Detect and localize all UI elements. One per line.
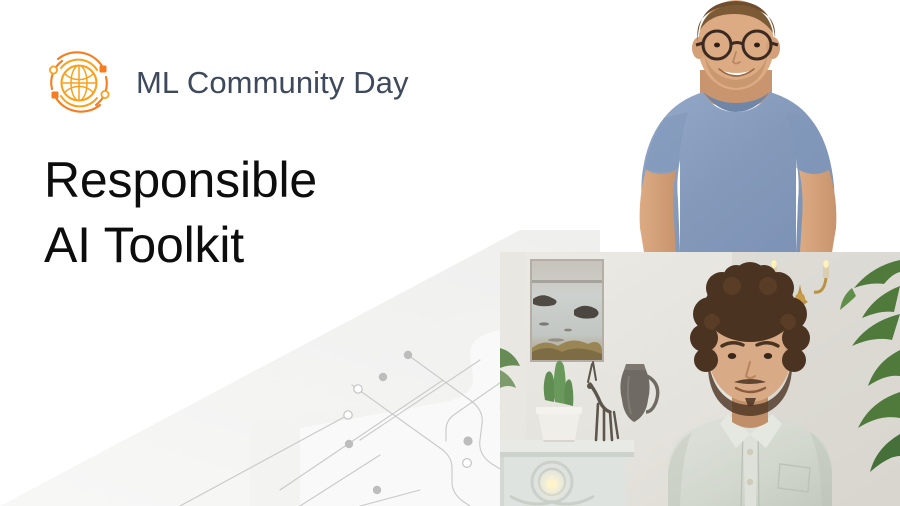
circuit-trace	[300, 455, 380, 506]
circuit-trace	[360, 490, 420, 506]
presentation-slide: ML Community Day Responsible AI Toolkit	[0, 0, 900, 506]
shirt-placket	[743, 428, 758, 506]
circuit-trace	[360, 360, 480, 440]
webcam-video-feed[interactable]	[500, 252, 900, 506]
framed-seascape-painting	[530, 259, 604, 362]
orbiting-globe-icon	[38, 42, 120, 124]
speaker-eye-right	[764, 353, 772, 359]
circuit-node-filled	[373, 486, 381, 494]
presenter-arm-left	[640, 170, 676, 252]
page-title-line-2: AI Toolkit	[44, 213, 317, 278]
circuit-trace	[280, 380, 443, 490]
circuit-node-filled	[463, 436, 472, 445]
brand-lockup: ML Community Day	[38, 42, 409, 124]
circuit-node-filled	[379, 373, 387, 381]
circuit-node-hollow	[344, 411, 352, 419]
presenter-arm-right	[799, 170, 836, 252]
marble-mantel	[500, 440, 634, 506]
brand-name: ML Community Day	[136, 65, 409, 101]
orbit-node-square	[52, 92, 59, 99]
circuit-node-filled	[404, 351, 412, 359]
circuit-trace	[352, 385, 470, 506]
circuit-trace	[180, 415, 348, 506]
circuit-node-group	[345, 351, 473, 494]
presenter-eye-right	[754, 43, 760, 48]
page-title-line-1: Responsible	[44, 148, 317, 213]
orbit-node-hollow	[50, 66, 57, 73]
speaker-eye-left	[728, 353, 736, 359]
page-title: Responsible AI Toolkit	[44, 148, 317, 278]
circuit-node-hollow	[354, 385, 362, 393]
circuit-node-hollow	[463, 459, 472, 468]
shirt-button	[747, 449, 753, 455]
shirt-button	[747, 479, 753, 485]
orbit-node-square	[100, 66, 107, 73]
circuit-node-group-hollow	[344, 385, 472, 468]
orbit-node-hollow	[101, 91, 108, 98]
presenter-cutout-photo	[600, 0, 900, 252]
presenter-eye-left	[714, 43, 720, 48]
circuit-node-filled	[345, 440, 353, 448]
